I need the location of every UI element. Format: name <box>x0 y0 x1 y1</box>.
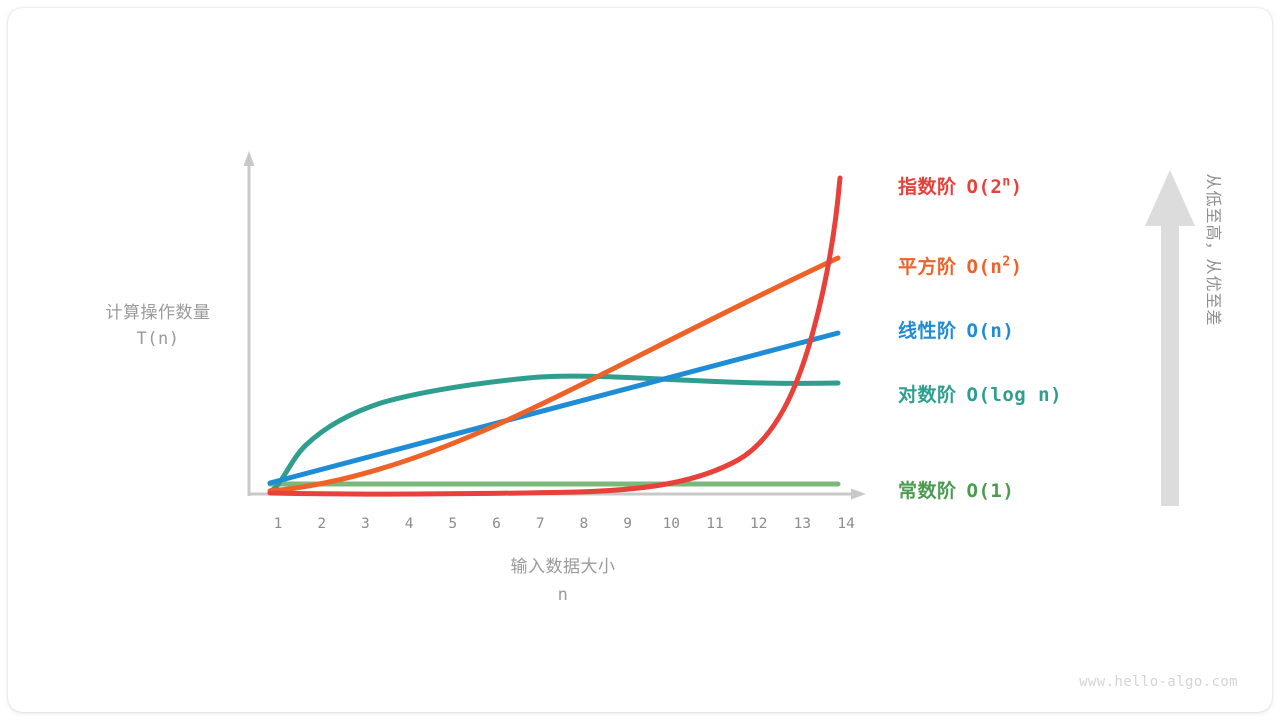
legend-notation-exponent: n <box>1002 175 1010 190</box>
legend-notation-base: O(2 <box>967 176 1003 198</box>
series-line-exponential <box>270 178 840 494</box>
legend-item-name: 平方阶 <box>898 256 957 278</box>
legend-item-notation: O(1) <box>967 480 1015 502</box>
legend-item: 指数阶O(2n) <box>898 172 1023 199</box>
x-tick-label: 7 <box>525 516 555 532</box>
x-tick-label: 1 <box>263 516 293 532</box>
x-tick-label: 12 <box>744 516 774 532</box>
legend-item-notation: O(n2) <box>967 256 1023 278</box>
legend-item-notation: O(log n) <box>967 384 1063 406</box>
legend-notation-base: O(n <box>967 256 1003 278</box>
x-axis-title: 输入数据大小 n <box>448 553 678 609</box>
x-tick-label: 3 <box>350 516 380 532</box>
legend-item: 线性阶O(n) <box>898 316 1014 343</box>
x-axis-title-line1: 输入数据大小 <box>448 553 678 581</box>
legend-item-notation: O(n) <box>967 320 1015 342</box>
series-line-linear <box>270 333 838 483</box>
x-tick-label: 14 <box>831 516 861 532</box>
figure-card: 计算操作数量 T(n) 输入数据大小 n 1234567891011121314… <box>8 8 1272 712</box>
quality-direction-label: 从低至高，从优至差 <box>1203 150 1227 350</box>
y-axis-title: 计算操作数量 T(n) <box>68 300 248 352</box>
legend-notation-base: O(1) <box>967 480 1015 502</box>
watermark: www.hello-algo.com <box>1079 674 1238 690</box>
quality-direction-arrow <box>1144 168 1196 508</box>
x-tick-label: 10 <box>656 516 686 532</box>
legend-notation-base: O(log n) <box>967 384 1063 406</box>
x-tick-label: 6 <box>482 516 512 532</box>
x-tick-label: 8 <box>569 516 599 532</box>
legend-notation-exponent: 2 <box>1002 255 1010 270</box>
legend-item-notation: O(2n) <box>967 176 1023 198</box>
y-axis-title-line2: T(n) <box>68 326 248 352</box>
x-axis-title-line2: n <box>448 581 678 609</box>
x-tick-label: 9 <box>613 516 643 532</box>
legend-notation-suffix: ) <box>1011 256 1023 278</box>
legend-notation-suffix: ) <box>1011 176 1023 198</box>
x-tick-label: 2 <box>307 516 337 532</box>
x-tick-label: 13 <box>787 516 817 532</box>
legend-item: 平方阶O(n2) <box>898 252 1023 279</box>
legend-item-name: 常数阶 <box>898 480 957 502</box>
x-tick-label: 11 <box>700 516 730 532</box>
legend-item-name: 对数阶 <box>898 384 957 406</box>
legend-item-name: 线性阶 <box>898 320 957 342</box>
legend-notation-base: O(n) <box>967 320 1015 342</box>
x-tick-label: 4 <box>394 516 424 532</box>
legend-item-name: 指数阶 <box>898 176 957 198</box>
x-tick-label: 5 <box>438 516 468 532</box>
legend-item: 常数阶O(1) <box>898 476 1014 503</box>
y-axis-title-line1: 计算操作数量 <box>68 300 248 326</box>
legend-item: 对数阶O(log n) <box>898 380 1062 407</box>
